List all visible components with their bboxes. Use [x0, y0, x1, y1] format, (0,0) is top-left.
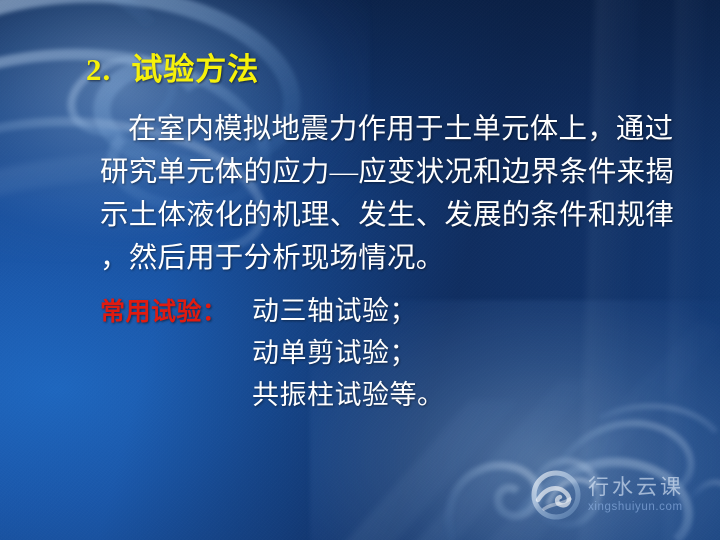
experiments-list: 常用试验：动三轴试验； 常用试验：动单剪试验； 常用试验：共振柱试验等。: [100, 290, 700, 416]
body-paragraph: 在室内模拟地震力作用于土单元体上，通过 研究单元体的应力—应变状况和边界条件来揭…: [100, 108, 710, 280]
experiments-label: 常用试验：: [100, 292, 252, 334]
watermark: 行水云课 xingshuiyun.com: [528, 462, 718, 528]
experiment-item-text: 共振柱试验等。: [252, 374, 445, 416]
wave-circle-logo-icon: [528, 467, 584, 523]
watermark-chinese: 行水云课: [588, 477, 684, 499]
watermark-english: xingshuiyun.com: [588, 501, 684, 513]
experiment-item-text: 动单剪试验；: [252, 332, 417, 374]
watermark-text: 行水云课 xingshuiyun.com: [588, 477, 684, 513]
experiment-item-text: 动三轴试验；: [252, 290, 417, 332]
title-number: 2.: [86, 52, 111, 87]
paragraph-line: 研究单元体的应力—应变状况和边界条件来揭: [100, 151, 710, 194]
paragraph-line: ，然后用于分析现场情况。: [100, 237, 710, 280]
paragraph-line: 在室内模拟地震力作用于土单元体上，通过: [100, 108, 710, 151]
presentation-slide: 2.试验方法 在室内模拟地震力作用于土单元体上，通过 研究单元体的应力—应变状况…: [0, 0, 720, 540]
list-item: 常用试验：动三轴试验；: [100, 290, 700, 332]
slide-content: 2.试验方法 在室内模拟地震力作用于土单元体上，通过 研究单元体的应力—应变状况…: [0, 0, 720, 540]
list-item: 常用试验：共振柱试验等。: [100, 374, 700, 416]
list-item: 常用试验：动单剪试验；: [100, 332, 700, 374]
page-title: 2.试验方法: [86, 44, 259, 89]
paragraph-line: 示土体液化的机理、发生、发展的条件和规律: [100, 194, 710, 237]
title-text: 试验方法: [131, 52, 259, 87]
